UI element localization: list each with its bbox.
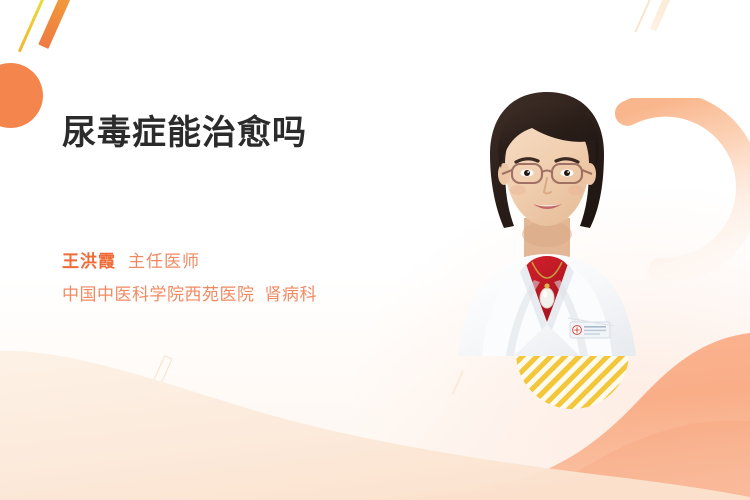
doctor-credits-block: 王洪霞主任医师 中国中医科学院西苑医院肾病科: [62, 248, 317, 308]
doctor-professional-title: 主任医师: [128, 252, 200, 271]
title-block: 尿毒症能治愈吗: [62, 112, 462, 155]
hospital-name: 中国中医科学院西苑医院: [62, 285, 255, 304]
doctor-affiliation-row: 中国中医科学院西苑医院肾病科: [62, 281, 317, 308]
department-name: 肾病科: [265, 285, 318, 304]
diagonal-stripe-faint-thin-icon: [635, 0, 656, 32]
solid-orange-circle-icon: [0, 63, 43, 128]
diagonal-stripe-yellow-icon: [18, 0, 50, 52]
diagonal-stripe-faint-thick-icon: [650, 0, 676, 31]
page-title: 尿毒症能治愈吗: [62, 112, 462, 155]
video-cover-card: 尿毒症能治愈吗 王洪霞主任医师 中国中医科学院西苑医院肾病科: [0, 0, 750, 500]
faint-stripe-sliver-icon: [452, 371, 464, 396]
doctor-name-row: 王洪霞主任医师: [62, 248, 317, 275]
outlined-stripe-sliver-icon: [148, 355, 172, 395]
doctor-portrait-photo: [452, 86, 642, 356]
diagonal-stripe-orange-icon: [38, 0, 73, 49]
doctor-name: 王洪霞: [62, 252, 116, 271]
